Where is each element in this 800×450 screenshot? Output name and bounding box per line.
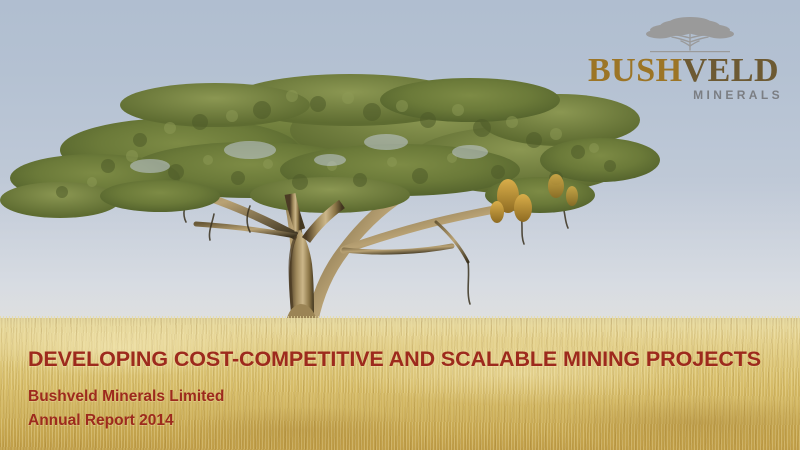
report-cover: BUSHVELD MINERALS DEVELOPING COST-COMPET…	[0, 0, 800, 450]
logo-subtext: MINERALS	[693, 88, 783, 102]
logo-wordmark-part2: VELD	[683, 52, 779, 89]
logo-wordmark-part1: BUSH	[588, 52, 683, 89]
grass-horizon-fringe	[0, 316, 800, 332]
cover-headline: DEVELOPING COST-COMPETITIVE AND SCALABLE…	[28, 347, 761, 372]
cover-subtitle-company: Bushveld Minerals Limited	[28, 388, 224, 406]
cover-subtitle-report: Annual Report 2014	[28, 412, 174, 430]
logo-wordmark: BUSHVELD	[588, 54, 784, 88]
company-logo: BUSHVELD MINERALS	[588, 16, 784, 108]
grass-shading	[0, 318, 800, 450]
